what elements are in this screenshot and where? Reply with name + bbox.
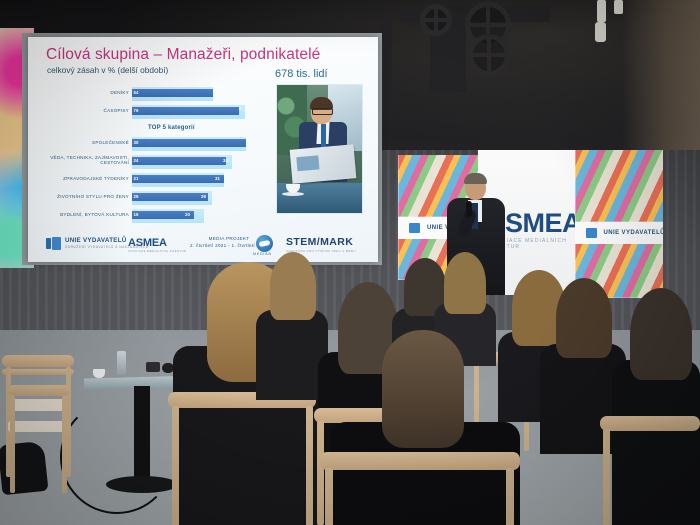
bar-dark: 54 xyxy=(132,89,213,98)
chair-leg xyxy=(10,395,15,493)
pendant-lamp-icon xyxy=(595,22,606,42)
bar-pair: 24 34 xyxy=(132,155,254,170)
chart-row: BYDLENÍ, BYTOVÁ KULTURA 15 20 xyxy=(36,209,254,224)
bar-dark: 30 xyxy=(132,139,246,148)
audience-hair xyxy=(270,252,316,320)
bar-category-label: BYDLENÍ, BYTOVÁ KULTURA xyxy=(29,212,129,217)
reach-bar-chart: DENÍKY 54 54 ČASOPISY 80 xyxy=(36,85,254,225)
tie xyxy=(321,124,326,148)
bar-dark: 24 34 xyxy=(132,157,226,166)
bar-category-label: ČASOPISY xyxy=(29,108,129,113)
speaker-hair xyxy=(464,173,487,184)
bar-dark: 15 20 xyxy=(132,211,194,220)
bar-light-value: 20 xyxy=(185,212,190,217)
bar-dark-value: 30 xyxy=(134,140,139,145)
audience-hair xyxy=(630,288,692,380)
bar-pair: 21 31 xyxy=(132,173,254,188)
bar-category-label: ZPRAVODAJSKÉ TÝDENÍKY xyxy=(29,176,129,181)
bar-dark-value: 21 xyxy=(134,176,139,181)
unie-vydavatelu-logo-icon xyxy=(46,237,61,250)
pendant-lamp-icon xyxy=(597,0,606,22)
chair-leg xyxy=(172,406,179,525)
magazine-collage xyxy=(575,150,663,222)
audience-member xyxy=(330,330,520,525)
median-logo-icon xyxy=(256,235,273,252)
unie-vydavatelu-logo-icon xyxy=(586,228,597,238)
flywheel-small-icon xyxy=(468,34,510,76)
bar-category-label: VĚDA, TECHNIKA, ZAJÍMAVOSTI, CESTOVÁNÍ xyxy=(29,155,129,165)
unie-vydavatelu-logo-icon xyxy=(409,223,420,233)
chart-row: SPOLEČENSKÉ 36 30 xyxy=(36,137,254,152)
chair-backrest xyxy=(600,416,700,431)
bar-pair: 36 30 xyxy=(132,137,254,152)
audience-hair xyxy=(556,278,612,358)
bar-dark-value: 76 xyxy=(134,108,139,113)
bar-dark-value: 15 xyxy=(134,212,139,217)
bar-category-label: ŽIVOTNÍHO STYLU PRO ŽENY xyxy=(29,194,129,199)
chart-row: ZPRAVODAJSKÉ TÝDENÍKY 21 31 xyxy=(36,173,254,188)
bar-dark: 76 xyxy=(132,107,239,116)
chart-row: DENÍKY 54 54 xyxy=(36,87,254,102)
chair-backrest xyxy=(8,385,70,396)
bar-dark: 21 31 xyxy=(132,175,224,184)
bar-dark-value: 54 xyxy=(134,90,139,95)
footer-agency-sub: ASOCIACE MEDIÁLNÍCH AGENTUR xyxy=(128,250,186,253)
chair-seat xyxy=(8,399,70,411)
chair-leg xyxy=(325,468,333,525)
bar-dark-value: 24 xyxy=(134,158,139,163)
chair-rail xyxy=(2,369,74,375)
chart-row: ŽIVOTNÍHO STYLU PRO ŽENY 25 26 xyxy=(36,191,254,206)
chair-leg xyxy=(506,468,514,525)
slide-subtitle: celkový zásah v % (delší období) xyxy=(47,65,168,75)
chair-leg xyxy=(317,421,324,525)
glasses-icon xyxy=(312,108,333,115)
bar-dark-value: 25 xyxy=(134,194,139,199)
top5-heading: TOP 5 kategorií xyxy=(148,125,195,131)
audience-hair xyxy=(444,252,486,314)
chair-leg xyxy=(62,395,67,493)
chart-row: ČASOPISY 80 76 xyxy=(36,105,254,120)
table-device xyxy=(146,362,160,372)
footer-publisher-name: UNIE VYDAVATELŮ xyxy=(65,237,127,244)
presentation-slide: Cílová skupina – Manažeři, podnikatelé c… xyxy=(28,37,378,262)
bar-light-value: 34 xyxy=(223,158,228,163)
table-bottle xyxy=(117,351,126,375)
table-cup xyxy=(93,369,105,378)
banner-logo-text: UNIE VYDAVATELŮ xyxy=(604,230,663,236)
magazine-collage-banner-right: UNIE VYDAVATELŮ xyxy=(575,150,663,298)
bar-pair: 54 54 xyxy=(132,87,254,102)
newspaper xyxy=(290,144,357,183)
audience-hair xyxy=(382,330,464,448)
chart-row: VĚDA, TECHNIKA, ZAJÍMAVOSTI, CESTOVÁNÍ 2… xyxy=(36,155,254,170)
chair-leg xyxy=(306,406,313,525)
chair-leg xyxy=(603,429,610,525)
bar-light-value: 31 xyxy=(215,176,220,181)
bar-category-label: SPOLEČENSKÉ xyxy=(29,140,129,145)
bar-light-value: 26 xyxy=(201,194,206,199)
banner-logo-right: UNIE VYDAVATELŮ xyxy=(575,222,663,244)
slide-title: Cílová skupina – Manažeři, podnikatelé xyxy=(46,46,320,64)
gear-icon xyxy=(420,4,452,36)
chair-backrest xyxy=(2,355,74,367)
chair-backrest xyxy=(320,452,520,470)
microphone-icon xyxy=(466,201,472,217)
floor-cable xyxy=(60,400,174,514)
bar-pair: 80 76 xyxy=(132,105,254,120)
footer-agency-name: ASMEA xyxy=(128,237,167,249)
slide-photo xyxy=(276,84,363,214)
bar-category-label: DENÍKY xyxy=(29,90,129,95)
bar-dark: 25 26 xyxy=(132,193,208,202)
chair-seat xyxy=(8,421,66,432)
slide-kpi-value: 678 tis. lidí xyxy=(275,68,328,80)
conference-room-scene: Cílová skupina – Manažeři, podnikatelé c… xyxy=(0,0,700,525)
audience-torso xyxy=(612,360,700,525)
bar-pair: 15 20 xyxy=(132,209,254,224)
audience-member xyxy=(612,290,700,525)
bar-pair: 25 26 xyxy=(132,191,254,206)
footer-stem-name: STEM/MARK xyxy=(286,236,353,248)
